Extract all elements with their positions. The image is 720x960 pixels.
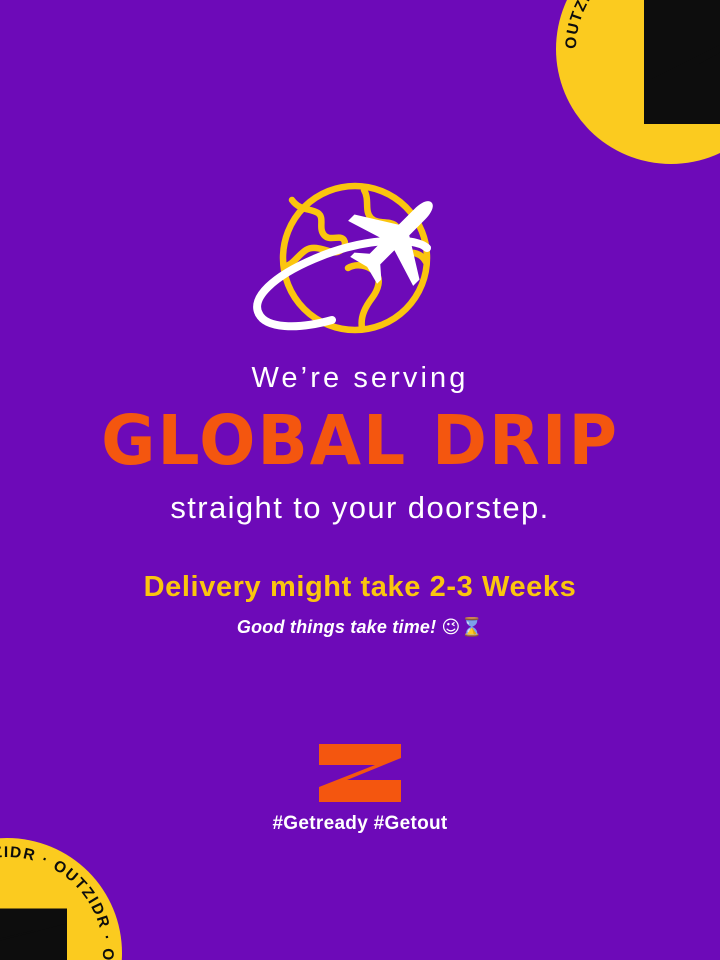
subheadline-text: straight to your doorstep.	[0, 491, 720, 525]
hero-illustration	[0, 178, 720, 348]
outzidr-z-logo-icon	[319, 744, 401, 802]
tagline-text: Good things take time!	[237, 617, 436, 637]
hashtags-text: #Getready #Getout	[272, 813, 447, 835]
copy-block: We’re serving GLOBAL DRIP straight to yo…	[0, 362, 720, 638]
brand-badge-bottom-left: OUTZIDR · OUTZIDR · OUTZIDR · OUTZIDR · …	[0, 838, 122, 960]
wink-and-hourglass-emoji: 😉⌛	[442, 617, 484, 638]
outzidr-z-mark-icon	[644, 0, 720, 124]
badge-logo-lockup-bottom-left: OUTZIDR	[0, 909, 73, 960]
badge-logo-lockup-top-right	[644, 0, 720, 124]
eyebrow-text: We’re serving	[0, 362, 720, 394]
tagline-row: Good things take time! 😉⌛	[0, 617, 720, 638]
outzidr-z-mark-icon	[0, 909, 67, 960]
footer-brand-block: #Getready #Getout	[0, 744, 720, 835]
poster-canvas: OUTZIDR · OUTZIDR · OUTZIDR · OUTZIDR · …	[0, 0, 720, 960]
globe-with-airplane-icon	[244, 180, 476, 346]
page-title: GLOBAL DRIP	[14, 407, 705, 476]
brand-badge-top-right: OUTZIDR · OUTZIDR · OUTZIDR · OUTZIDR ·	[556, 0, 720, 164]
delivery-estimate-text: Delivery might take 2-3 Weeks	[0, 571, 720, 604]
